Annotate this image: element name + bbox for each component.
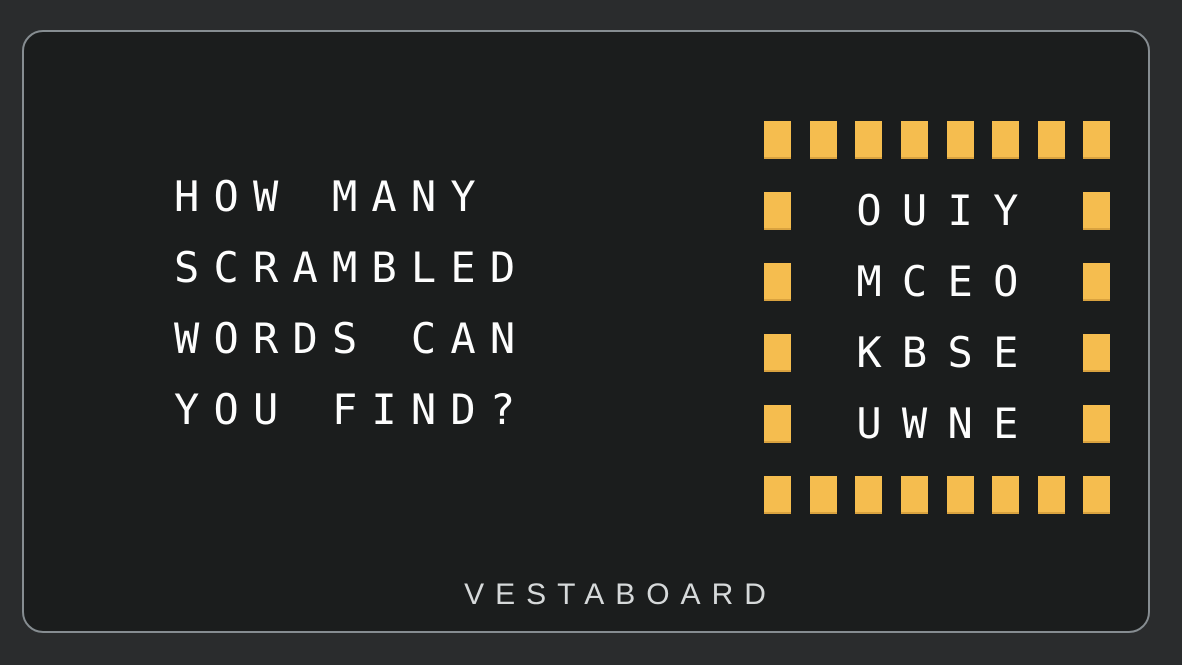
- tile-blank: [1029, 317, 1075, 388]
- tile-flap-swatch: [764, 121, 791, 159]
- tile-letter-glyph: E: [993, 403, 1018, 445]
- tile-flap: [1074, 104, 1120, 175]
- tile-flap: [983, 459, 1029, 530]
- tile-flap: [1074, 317, 1120, 388]
- tile-letter-glyph: O: [856, 190, 881, 232]
- tile-letter: W: [892, 388, 938, 459]
- tile-letter: E: [983, 317, 1029, 388]
- tile-flap-swatch: [901, 476, 928, 514]
- tile-letter-glyph: U: [902, 190, 927, 232]
- grid-row: [755, 104, 1155, 175]
- tile-flap-swatch: [1083, 192, 1110, 230]
- brand-footer: VESTABOARD: [24, 578, 1182, 612]
- tile-flap-swatch: [764, 405, 791, 443]
- tile-letter-glyph: O: [993, 261, 1018, 303]
- tile-flap-swatch: [1083, 476, 1110, 514]
- tile-flap-swatch: [764, 263, 791, 301]
- tile-letter-glyph: B: [902, 332, 927, 374]
- tile-blank: [801, 175, 847, 246]
- message-line-4: YOU FIND?: [174, 374, 644, 445]
- tile-blank: [801, 246, 847, 317]
- tile-flap: [892, 104, 938, 175]
- tile-letter-glyph: N: [948, 403, 973, 445]
- tile-flap: [755, 175, 801, 246]
- tile-blank-space: [1038, 192, 1065, 230]
- grid-row: UWNE: [755, 388, 1155, 459]
- tile-blank-space: [810, 334, 837, 372]
- tile-letter: Y: [983, 175, 1029, 246]
- tile-letter: N: [937, 388, 983, 459]
- tile-flap-swatch: [901, 121, 928, 159]
- grid-row: OUIY: [755, 175, 1155, 246]
- tile-flap: [846, 104, 892, 175]
- tile-flap: [937, 104, 983, 175]
- tile-flap: [1074, 175, 1120, 246]
- message-block: HOW MANY SCRAMBLED WORDS CAN YOU FIND?: [174, 161, 644, 445]
- tile-flap-swatch: [1038, 121, 1065, 159]
- tile-blank: [801, 317, 847, 388]
- tile-letter: O: [983, 246, 1029, 317]
- tile-flap-swatch: [810, 476, 837, 514]
- tile-flap-swatch: [947, 121, 974, 159]
- grid-row: KBSE: [755, 317, 1155, 388]
- message-line-3: WORDS CAN: [174, 303, 644, 374]
- tile-flap-swatch: [1083, 405, 1110, 443]
- tile-blank: [1029, 246, 1075, 317]
- tile-blank-space: [810, 405, 837, 443]
- tile-flap: [846, 459, 892, 530]
- tile-letter: K: [846, 317, 892, 388]
- tile-blank: [801, 388, 847, 459]
- tile-blank-space: [810, 192, 837, 230]
- tile-blank-space: [1038, 263, 1065, 301]
- tile-letter: I: [937, 175, 983, 246]
- tile-flap-swatch: [1038, 476, 1065, 514]
- tile-flap: [1029, 459, 1075, 530]
- tile-letter: C: [892, 246, 938, 317]
- tile-flap: [801, 104, 847, 175]
- tile-flap: [755, 459, 801, 530]
- tile-flap-swatch: [992, 476, 1019, 514]
- tile-flap-swatch: [855, 476, 882, 514]
- tile-flap: [1029, 104, 1075, 175]
- tile-letter-glyph: K: [856, 332, 881, 374]
- tile-blank: [1029, 175, 1075, 246]
- tile-flap: [801, 459, 847, 530]
- tile-letter-glyph: S: [948, 332, 973, 374]
- tile-flap: [983, 104, 1029, 175]
- tile-letter: U: [846, 388, 892, 459]
- tile-letter: E: [983, 388, 1029, 459]
- tile-letter-glyph: W: [902, 403, 927, 445]
- tile-flap-swatch: [764, 334, 791, 372]
- tile-flap: [755, 104, 801, 175]
- tile-flap-swatch: [992, 121, 1019, 159]
- tile-flap: [1074, 459, 1120, 530]
- tile-letter-glyph: E: [993, 332, 1018, 374]
- tile-letter: M: [846, 246, 892, 317]
- tile-flap-swatch: [855, 121, 882, 159]
- tile-flap-swatch: [1083, 121, 1110, 159]
- tile-flap: [937, 459, 983, 530]
- tile-letter-glyph: U: [856, 403, 881, 445]
- tile-letter-glyph: I: [948, 190, 973, 232]
- grid-row: [755, 459, 1155, 530]
- tile-letter: U: [892, 175, 938, 246]
- letter-grid: OUIYMCEOKBSEUWNE: [755, 104, 1155, 530]
- tile-letter: E: [937, 246, 983, 317]
- tile-flap: [755, 246, 801, 317]
- tile-letter: O: [846, 175, 892, 246]
- tile-flap-swatch: [1083, 263, 1110, 301]
- tile-flap-swatch: [764, 192, 791, 230]
- message-line-1: HOW MANY: [174, 161, 644, 232]
- tile-letter-glyph: Y: [993, 190, 1018, 232]
- vestaboard-panel: HOW MANY SCRAMBLED WORDS CAN YOU FIND? O…: [22, 30, 1150, 633]
- tile-blank-space: [1038, 405, 1065, 443]
- tile-flap-swatch: [1083, 334, 1110, 372]
- tile-flap-swatch: [810, 121, 837, 159]
- tile-letter-glyph: E: [948, 261, 973, 303]
- tile-flap-swatch: [764, 476, 791, 514]
- tile-flap: [1074, 388, 1120, 459]
- grid-row: MCEO: [755, 246, 1155, 317]
- tile-blank-space: [1038, 334, 1065, 372]
- tile-letter: B: [892, 317, 938, 388]
- tile-flap: [892, 459, 938, 530]
- tile-letter: S: [937, 317, 983, 388]
- tile-blank: [1029, 388, 1075, 459]
- tile-flap: [1074, 246, 1120, 317]
- message-line-2: SCRAMBLED: [174, 232, 644, 303]
- tile-flap: [755, 388, 801, 459]
- tile-blank-space: [810, 263, 837, 301]
- tile-letter-glyph: M: [856, 261, 881, 303]
- tile-flap-swatch: [947, 476, 974, 514]
- tile-letter-glyph: C: [902, 261, 927, 303]
- tile-flap: [755, 317, 801, 388]
